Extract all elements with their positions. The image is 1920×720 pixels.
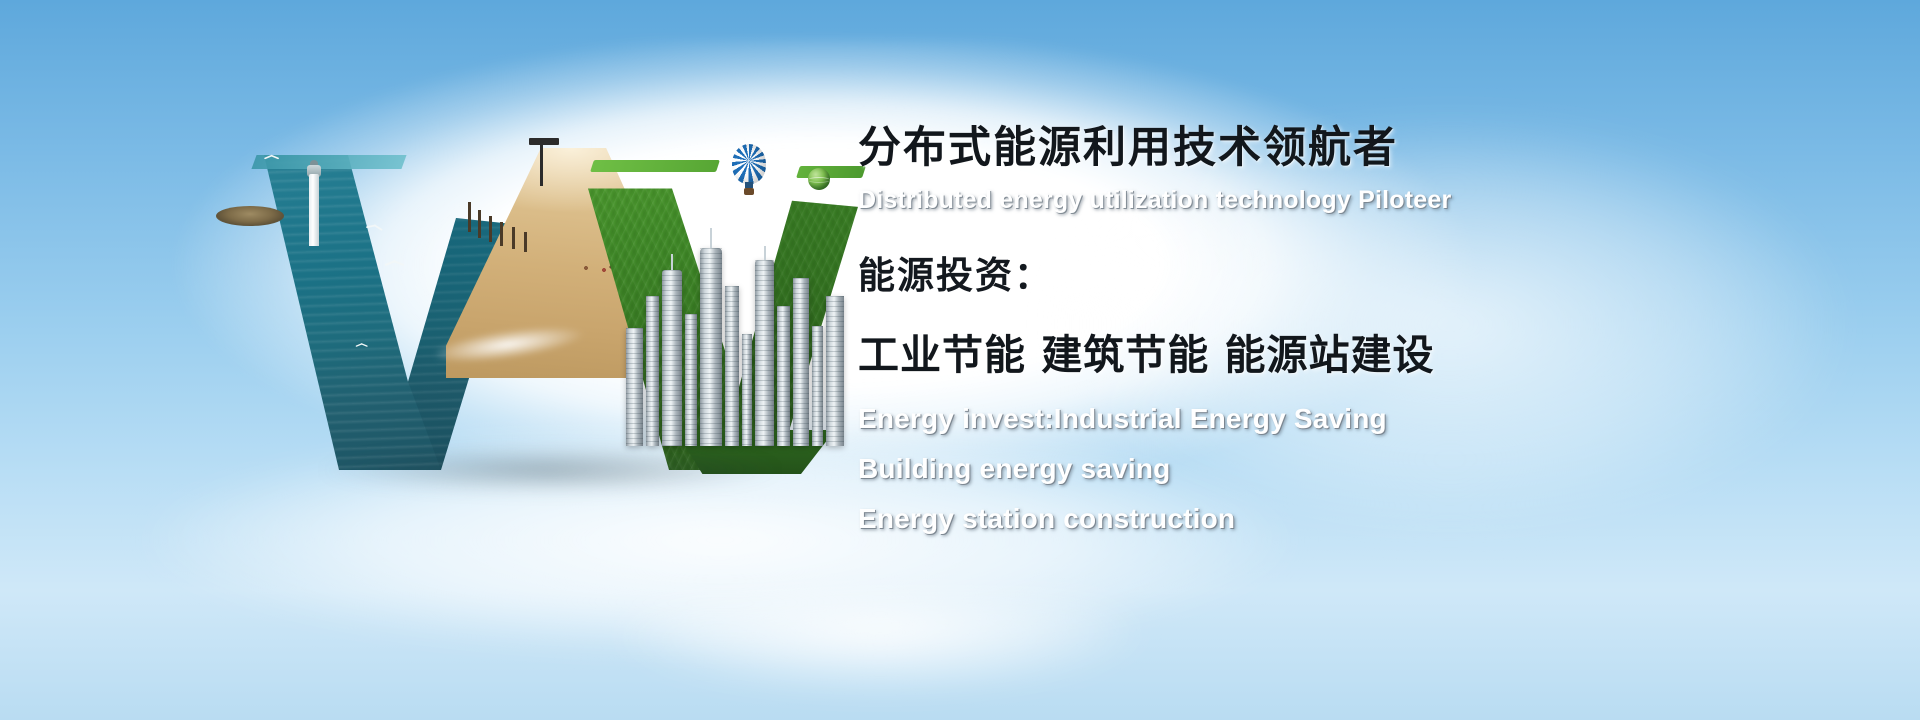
- letter-w-artwork: [240, 130, 860, 470]
- section-items-chinese: 工业节能 建筑节能 能源站建设: [858, 321, 1858, 381]
- fence-post: [468, 202, 471, 232]
- rocky-island: [216, 206, 284, 226]
- building-spire: [710, 228, 712, 248]
- grass-top-face: [590, 160, 720, 172]
- seagull-icon: [356, 342, 369, 349]
- building: [755, 260, 774, 446]
- section-label-chinese: 能源投资：: [858, 245, 1858, 299]
- lighthouse-tower: [309, 174, 319, 246]
- balloon-envelope: [732, 144, 766, 184]
- banner-text-block: 分布式能源利用技术领航者 Distributed energy utilizat…: [858, 126, 1858, 535]
- seagull-icon: [264, 153, 280, 161]
- artwork-ground-shadow: [250, 440, 850, 500]
- building: [646, 296, 659, 446]
- building: [812, 326, 823, 446]
- english-line-1: Energy invest:Industrial Energy Saving: [858, 403, 1858, 435]
- building: [793, 278, 809, 446]
- building: [826, 296, 844, 446]
- headline-chinese: 分布式能源利用技术领航者: [858, 126, 1858, 172]
- hot-air-balloon-icon: [732, 144, 766, 198]
- seagull-icon: [385, 258, 406, 269]
- seagull-icon: [365, 221, 384, 233]
- building-spire: [671, 254, 673, 270]
- building-spire: [764, 246, 766, 260]
- building: [626, 328, 643, 446]
- building: [662, 270, 682, 446]
- bottom-cloud-glow: [560, 600, 1200, 720]
- english-line-2: Building energy saving: [858, 453, 1858, 485]
- building: [777, 306, 790, 446]
- signpost-arm: [529, 138, 559, 145]
- lighthouse-icon: [306, 160, 322, 246]
- hero-banner: 分布式能源利用技术领航者 Distributed energy utilizat…: [0, 0, 1920, 720]
- english-line-3: Energy station construction: [858, 503, 1858, 535]
- balloon-basket: [744, 188, 754, 195]
- globe-equator-line: [808, 177, 830, 183]
- subheadline-english: Distributed energy utilization technolog…: [858, 186, 1858, 215]
- grass-top-face-right: [796, 166, 866, 178]
- fence-post: [524, 232, 527, 252]
- fence-post: [489, 216, 492, 242]
- signpost-icon: [540, 140, 543, 186]
- fence-post: [512, 227, 515, 249]
- fence-post: [500, 222, 503, 246]
- fence-post: [478, 210, 481, 238]
